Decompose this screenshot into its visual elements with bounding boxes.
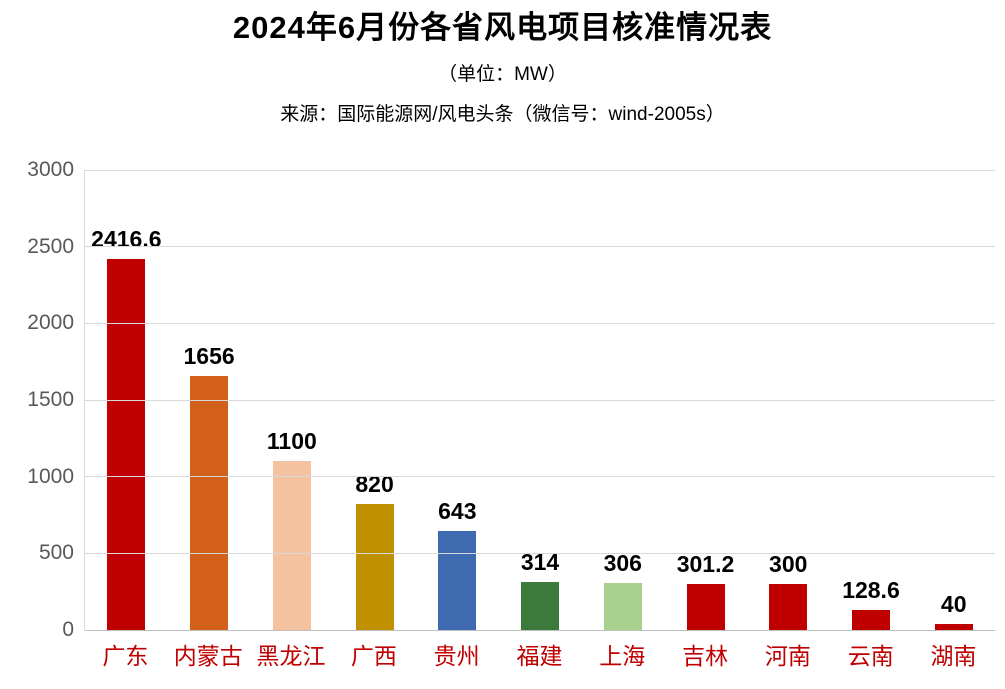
- chart-source: 来源：国际能源网/风电头条（微信号：wind-2005s）: [0, 100, 1005, 130]
- x-axis-tick-label: 内蒙古: [167, 632, 250, 682]
- gridline: [85, 553, 995, 554]
- bar[interactable]: 300: [769, 584, 807, 630]
- bar[interactable]: 314: [521, 582, 559, 630]
- bar[interactable]: 301.2: [687, 584, 725, 630]
- bar-value-label: 1100: [267, 428, 317, 455]
- gridline: [85, 630, 995, 631]
- y-axis-tick-label: 3000: [27, 158, 74, 182]
- bar-value-label: 128.6: [842, 577, 900, 604]
- bar[interactable]: 1656: [190, 376, 228, 630]
- gridline: [85, 170, 995, 171]
- x-axis: 广东内蒙古黑龙江广西贵州福建上海吉林河南云南湖南: [84, 632, 995, 682]
- bar-value-label: 306: [604, 550, 642, 577]
- bar[interactable]: 128.6: [852, 610, 890, 630]
- y-axis: 050010001500200025003000: [0, 170, 84, 630]
- x-axis-tick-label: 上海: [581, 632, 664, 682]
- chart-container: 2024年6月份各省风电项目核准情况表 （单位：MW） 来源：国际能源网/风电头…: [0, 0, 1005, 689]
- x-axis-tick-label: 吉林: [664, 632, 747, 682]
- bar-value-label: 301.2: [677, 551, 735, 578]
- y-axis-tick-label: 500: [39, 541, 74, 565]
- plot-area: 050010001500200025003000 2416.6165611008…: [0, 170, 1005, 689]
- y-axis-tick-label: 1500: [27, 388, 74, 412]
- gridline: [85, 323, 995, 324]
- bar[interactable]: 643: [438, 531, 476, 630]
- bar-value-label: 643: [438, 498, 476, 525]
- x-axis-tick-label: 广东: [84, 632, 167, 682]
- bar-value-label: 2416.6: [91, 226, 161, 253]
- bar-value-label: 300: [769, 551, 807, 578]
- chart-subtitle-unit: （单位：MW）: [0, 60, 1005, 90]
- x-axis-tick-label: 黑龙江: [250, 632, 333, 682]
- gridline: [85, 400, 995, 401]
- bar[interactable]: 820: [356, 504, 394, 630]
- grid-area: 2416.616561100820643314306301.2300128.64…: [84, 170, 995, 630]
- x-axis-tick-label: 广西: [332, 632, 415, 682]
- x-axis-tick-label: 湖南: [912, 632, 995, 682]
- gridline: [85, 476, 995, 477]
- bar[interactable]: 2416.6: [107, 259, 145, 630]
- y-axis-tick-label: 2000: [27, 311, 74, 335]
- x-axis-tick-label: 河南: [747, 632, 830, 682]
- x-axis-tick-label: 贵州: [415, 632, 498, 682]
- title-block: 2024年6月份各省风电项目核准情况表 （单位：MW） 来源：国际能源网/风电头…: [0, 8, 1005, 130]
- x-axis-tick-label: 云南: [829, 632, 912, 682]
- y-axis-tick-label: 2500: [27, 235, 74, 259]
- y-axis-tick-label: 1000: [27, 465, 74, 489]
- bar[interactable]: 1100: [273, 461, 311, 630]
- bar-value-label: 1656: [184, 343, 235, 370]
- x-axis-tick-label: 福建: [498, 632, 581, 682]
- bar-value-label: 40: [941, 591, 967, 618]
- y-axis-tick-label: 0: [62, 618, 74, 642]
- gridline: [85, 246, 995, 247]
- bar[interactable]: 306: [604, 583, 642, 630]
- chart-title: 2024年6月份各省风电项目核准情况表: [0, 8, 1005, 48]
